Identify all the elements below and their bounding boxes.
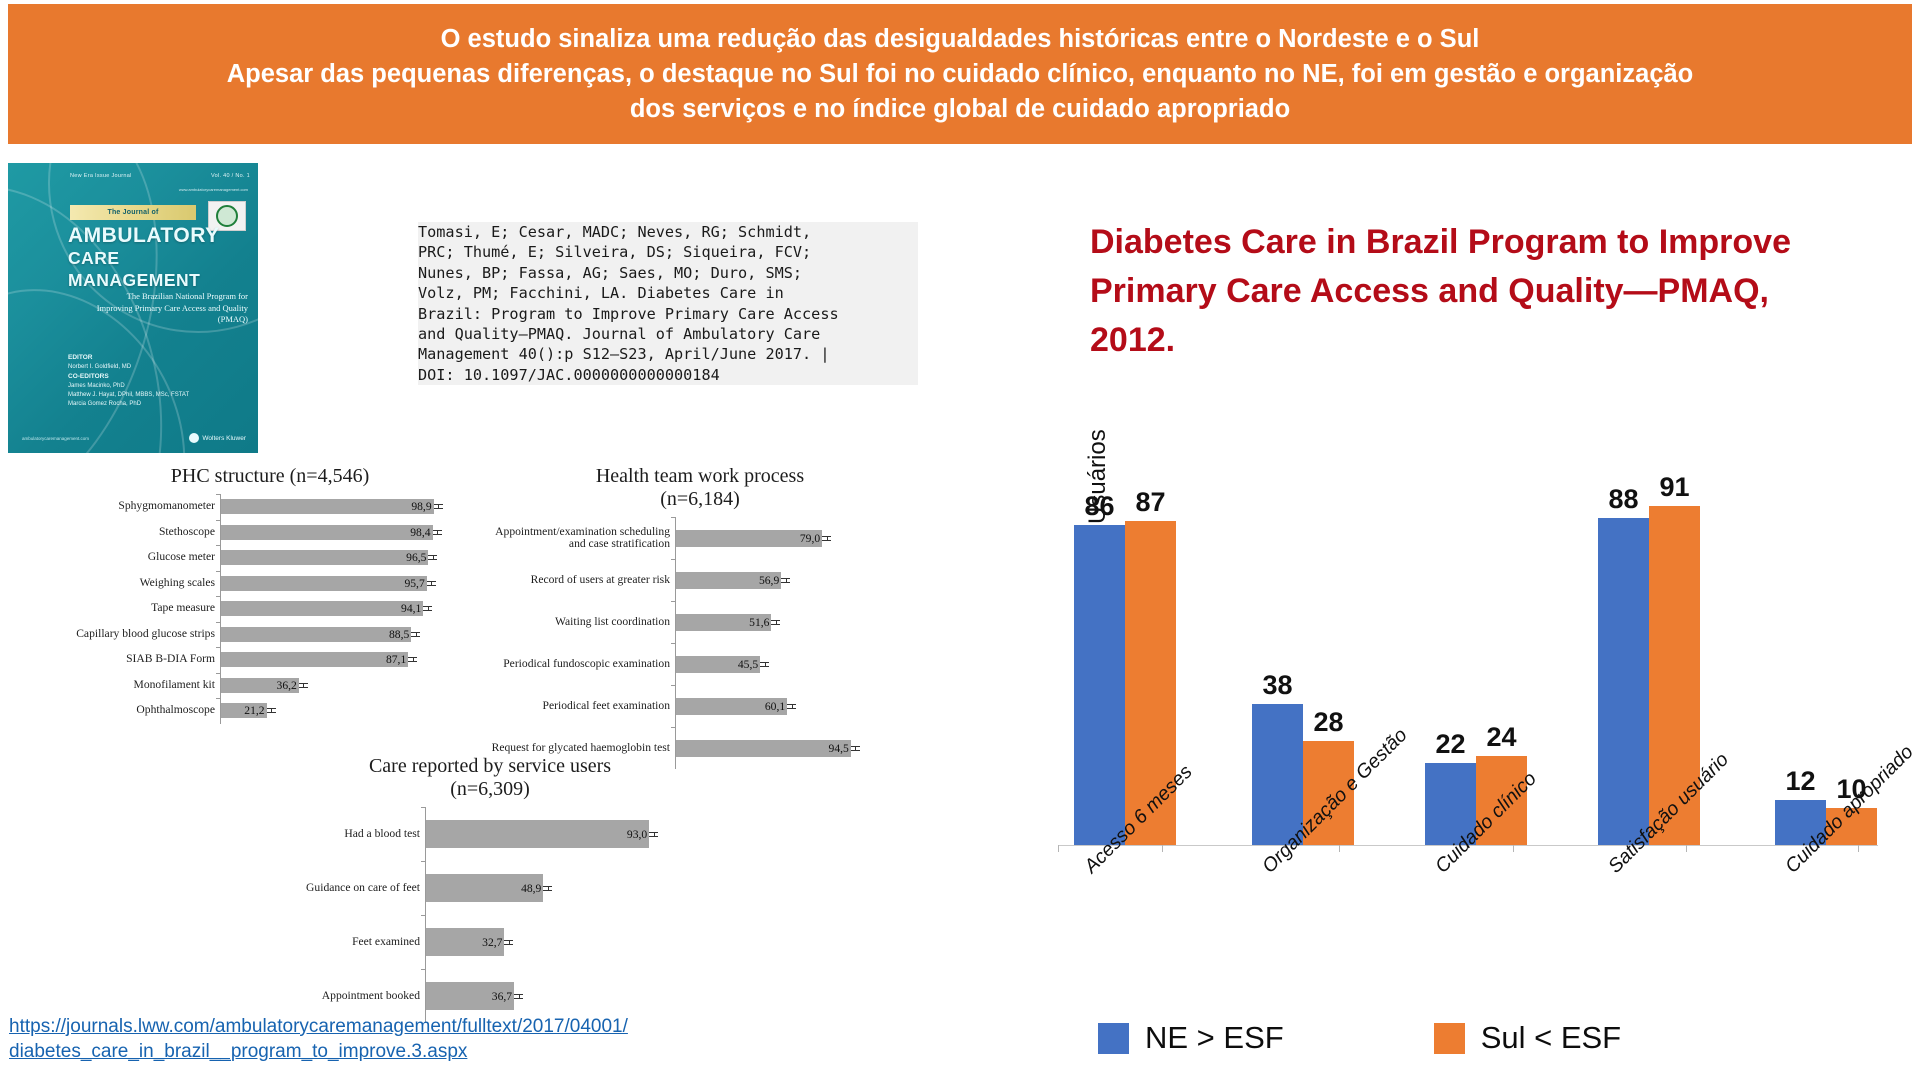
error-bar bbox=[411, 632, 420, 637]
bar-value-label: 86 bbox=[1084, 491, 1114, 521]
y-axis-tick bbox=[671, 643, 676, 644]
legend-label: Sul < ESF bbox=[1481, 1020, 1621, 1056]
chart-bar: 94,5 bbox=[676, 740, 851, 757]
x-axis-tick bbox=[1858, 845, 1859, 852]
chart-bar-row: Weighing scales95,7 bbox=[221, 571, 435, 597]
chart-bar-row: Record of users at greater risk56,9 bbox=[676, 559, 860, 601]
bar-value-label: 93,0 bbox=[627, 828, 649, 841]
bar-value-label: 56,9 bbox=[759, 574, 781, 587]
cover-editor-1: Norbert I. Goldfield, MD bbox=[68, 364, 131, 370]
cover-masthead-sub: www.ambulatorycaremanagement.com bbox=[179, 187, 248, 192]
cover-editor-role-2: CO-EDITORS bbox=[68, 373, 109, 380]
source-link[interactable]: https://journals.lww.com/ambulatorycarem… bbox=[9, 1014, 628, 1064]
bar-category-label: Sphygmomanometer bbox=[71, 500, 221, 513]
y-axis-tick bbox=[671, 559, 676, 560]
y-axis-tick bbox=[671, 517, 676, 518]
chart-title: Care reported by service users (n=6,309) bbox=[260, 755, 720, 801]
y-axis-tick bbox=[216, 494, 221, 495]
cover-publisher: Wolters Kluwer bbox=[189, 433, 246, 443]
journal-cover-image: New Era Issue Journal Vol. 40 / No. 1 ww… bbox=[8, 163, 258, 453]
chart-bar: 36,2 bbox=[221, 678, 299, 693]
y-axis-tick bbox=[671, 685, 676, 686]
bar-value-label: 12 bbox=[1785, 766, 1815, 796]
chart-title-line-1: Health team work process bbox=[490, 465, 910, 488]
chart-bar-row: Appointment/examination scheduling and c… bbox=[676, 517, 860, 559]
cover-title: AMBULATORY CARE MANAGEMENT bbox=[68, 225, 250, 291]
y-axis-tick bbox=[421, 861, 426, 862]
chart-bar: 36,7 bbox=[426, 982, 514, 1010]
chart-bar-row: Feet examined32,7 bbox=[426, 915, 665, 969]
error-bar bbox=[433, 530, 442, 535]
bar-value-label: 79,0 bbox=[800, 532, 822, 545]
bar-category-label: Appointment/examination scheduling and c… bbox=[491, 526, 676, 550]
bar-value-label: 94,5 bbox=[829, 742, 851, 755]
bar-value-label: 32,7 bbox=[482, 936, 504, 949]
chart-bar-row: Stethoscope98,4 bbox=[221, 520, 435, 546]
chart-care-reported-by-service-users: Care reported by service users (n=6,309)… bbox=[260, 755, 720, 1023]
chart-plot-area: Sphygmomanometer98,9Stethoscope98,4Gluco… bbox=[220, 494, 435, 724]
cover-editor-4: Marcia Gomez Rocha, PhD bbox=[68, 401, 141, 407]
bar-value-label: 88,5 bbox=[389, 628, 411, 641]
y-axis-tick bbox=[216, 698, 221, 699]
chart-health-team-work-process: Health team work process (n=6,184) Appoi… bbox=[490, 465, 910, 769]
chart-bar: 93,0 bbox=[426, 820, 649, 848]
chart-bar-row: Monofilament kit36,2 bbox=[221, 673, 435, 699]
header-banner: O estudo sinaliza uma redução das desigu… bbox=[8, 4, 1912, 144]
error-bar bbox=[514, 994, 523, 999]
cover-title-line-1: AMBULATORY bbox=[68, 224, 220, 247]
wolters-kluwer-logo-icon bbox=[189, 433, 199, 443]
cover-ribbon-label: The Journal of bbox=[70, 205, 196, 220]
bar-category-label: Appointment booked bbox=[261, 990, 426, 1003]
chart-phc-structure: PHC structure (n=4,546) Sphygmomanometer… bbox=[70, 465, 470, 724]
citation-block: Tomasi, E; Cesar, MADC; Neves, RG; Schmi… bbox=[418, 222, 918, 385]
bar-value-label: 60,1 bbox=[765, 700, 787, 713]
legend-label: NE > ESF bbox=[1145, 1020, 1284, 1056]
error-bar bbox=[299, 683, 308, 688]
bar-category-label: Capillary blood glucose strips bbox=[71, 628, 221, 641]
chart-bar: 60,1 bbox=[676, 698, 787, 715]
error-bar bbox=[851, 746, 860, 751]
bar-value-label: 98,9 bbox=[411, 500, 433, 513]
x-axis-tick bbox=[1339, 845, 1340, 852]
error-bar bbox=[822, 536, 831, 541]
bar-value-label: 98,4 bbox=[410, 526, 432, 539]
cover-editor-2: James Macinko, PhD bbox=[68, 383, 125, 389]
error-bar bbox=[543, 886, 552, 891]
bar-category-label: Request for glycated haemoglobin test bbox=[491, 742, 676, 754]
bar-value-label: 22 bbox=[1435, 729, 1465, 759]
bar-category-label: Waiting list coordination bbox=[491, 616, 676, 629]
chart-title: Health team work process (n=6,184) bbox=[490, 465, 910, 511]
legend-swatch bbox=[1434, 1023, 1465, 1054]
chart-bar-ne bbox=[1074, 525, 1125, 845]
y-axis-tick bbox=[671, 727, 676, 728]
chart-bar-row: Periodical feet examination60,1 bbox=[676, 685, 860, 727]
header-line-1: O estudo sinaliza uma redução das desigu… bbox=[441, 22, 1480, 57]
error-bar bbox=[771, 620, 780, 625]
y-axis-tick bbox=[216, 520, 221, 521]
error-bar bbox=[408, 657, 417, 662]
chart-title-line-2: (n=6,184) bbox=[490, 488, 910, 511]
cover-masthead-left: New Era Issue Journal bbox=[70, 173, 132, 179]
bar-value-label: 87 bbox=[1135, 487, 1165, 517]
bar-category-label: Had a blood test bbox=[261, 828, 426, 841]
y-axis-tick bbox=[216, 596, 221, 597]
bar-category-label: SIAB B-DIA Form bbox=[71, 653, 221, 666]
y-axis-tick bbox=[671, 601, 676, 602]
bar-value-label: 88 bbox=[1608, 484, 1638, 514]
bar-value-label: 95,7 bbox=[404, 577, 426, 590]
x-axis-tick bbox=[1513, 845, 1514, 852]
chart-bar-row: Tape measure94,1 bbox=[221, 596, 435, 622]
chart-bar: 94,1 bbox=[221, 601, 423, 616]
chart-bar-row: Capillary blood glucose strips88,5 bbox=[221, 622, 435, 648]
cover-editor-3: Matthew J. Hayat, DPhil, MBBS, MSc, FSTA… bbox=[68, 392, 189, 398]
error-bar bbox=[434, 504, 443, 509]
chart-bar: 21,2 bbox=[221, 703, 267, 718]
error-bar bbox=[504, 940, 513, 945]
y-axis-tick bbox=[216, 622, 221, 623]
page-title: Diabetes Care in Brazil Program to Impro… bbox=[1090, 218, 1830, 365]
bar-value-label: 28 bbox=[1313, 707, 1343, 737]
chart-bar-row: Waiting list coordination51,6 bbox=[676, 601, 860, 643]
bar-category-label: Periodical fundoscopic examination bbox=[491, 658, 676, 670]
source-link-line-1[interactable]: https://journals.lww.com/ambulatorycarem… bbox=[9, 1014, 628, 1039]
cover-editor-role-1: EDITOR bbox=[68, 354, 92, 361]
chart-title-line-2: (n=6,309) bbox=[260, 778, 720, 801]
y-axis-tick bbox=[216, 647, 221, 648]
cover-publisher-label: Wolters Kluwer bbox=[202, 435, 246, 442]
bar-value-label: 51,6 bbox=[749, 616, 771, 629]
x-axis-tick bbox=[1686, 845, 1687, 852]
bar-value-label: 91 bbox=[1659, 472, 1689, 502]
bar-category-label: Tape measure bbox=[71, 602, 221, 615]
chart-title-line-1: Care reported by service users bbox=[260, 755, 720, 778]
chart-bar: 48,9 bbox=[426, 874, 543, 902]
chart-bar-row: Had a blood test93,0 bbox=[426, 807, 665, 861]
chart-bar-row: Guidance on care of feet48,9 bbox=[426, 861, 665, 915]
legend-swatch bbox=[1098, 1023, 1129, 1054]
chart-bar: 87,1 bbox=[221, 652, 408, 667]
chart-bar: 96,5 bbox=[221, 550, 428, 565]
header-line-2: Apesar das pequenas diferenças, o destaq… bbox=[227, 57, 1694, 92]
bar-value-label: 48,9 bbox=[521, 882, 543, 895]
legend-item[interactable]: NE > ESF bbox=[1098, 1020, 1284, 1056]
bar-value-label: 36,7 bbox=[492, 990, 514, 1003]
y-axis-tick bbox=[421, 969, 426, 970]
chart-title: PHC structure (n=4,546) bbox=[70, 465, 470, 488]
chart-bar-row: Ophthalmoscope21,2 bbox=[221, 698, 435, 724]
chart-bar-ne bbox=[1598, 518, 1649, 845]
bar-category-label: Glucose meter bbox=[71, 551, 221, 564]
source-link-line-2[interactable]: diabetes_care_in_brazil__program_to_impr… bbox=[9, 1039, 467, 1064]
cover-editors: EDITOR Norbert I. Goldfield, MD CO-EDITO… bbox=[68, 353, 248, 409]
cover-title-line-2: CARE MANAGEMENT bbox=[68, 247, 250, 291]
bar-category-label: Periodical feet examination bbox=[491, 700, 676, 713]
chart-legend: NE > ESFSul < ESF bbox=[1058, 1020, 1878, 1056]
bar-category-label: Ophthalmoscope bbox=[71, 704, 221, 717]
error-bar bbox=[649, 832, 658, 837]
chart-bar: 51,6 bbox=[676, 614, 771, 631]
bar-category-label: Record of users at greater risk bbox=[491, 574, 676, 587]
chart-bar: 45,5 bbox=[676, 656, 760, 673]
bar-value-label: 96,5 bbox=[406, 551, 428, 564]
chart-bar: 88,5 bbox=[221, 627, 411, 642]
y-axis-tick bbox=[216, 545, 221, 546]
bar-category-label: Weighing scales bbox=[71, 577, 221, 590]
bar-category-label: Feet examined bbox=[261, 936, 426, 949]
cover-footnote: ambulatorycaremanagement.com bbox=[22, 436, 89, 441]
bar-value-label: 24 bbox=[1486, 722, 1516, 752]
chart-bar-row: Glucose meter96,5 bbox=[221, 545, 435, 571]
bar-value-label: 21,2 bbox=[244, 704, 266, 717]
chart-ne-sul-comparison: % Percepção dos Usuários 868738282224889… bbox=[940, 430, 1900, 1080]
header-line-3: dos serviços e no índice global de cuida… bbox=[630, 92, 1290, 127]
bar-value-label: 94,1 bbox=[401, 602, 423, 615]
y-axis-tick bbox=[216, 571, 221, 572]
bar-value-label: 38 bbox=[1262, 670, 1292, 700]
cover-ribbon: The Journal of bbox=[70, 205, 196, 220]
bar-category-label: Monofilament kit bbox=[71, 679, 221, 692]
chart-bar: 32,7 bbox=[426, 928, 504, 956]
chart-bar: 95,7 bbox=[221, 576, 427, 591]
chart-bar: 79,0 bbox=[676, 530, 822, 547]
error-bar bbox=[428, 555, 437, 560]
error-bar bbox=[781, 578, 790, 583]
x-axis-tick bbox=[1058, 845, 1059, 852]
y-axis-tick bbox=[421, 915, 426, 916]
chart-bar-row: Periodical fundoscopic examination45,5 bbox=[676, 643, 860, 685]
error-bar bbox=[787, 704, 796, 709]
chart-bar: 98,9 bbox=[221, 499, 434, 514]
chart-bar: 98,4 bbox=[221, 525, 433, 540]
error-bar bbox=[760, 662, 769, 667]
bar-value-label: 36,2 bbox=[277, 679, 299, 692]
y-axis-tick bbox=[421, 807, 426, 808]
error-bar bbox=[423, 606, 432, 611]
chart-plot-area: Appointment/examination scheduling and c… bbox=[675, 517, 860, 769]
cover-masthead-right: Vol. 40 / No. 1 bbox=[211, 173, 250, 179]
cover-masthead: New Era Issue Journal Vol. 40 / No. 1 bbox=[70, 173, 250, 179]
error-bar bbox=[267, 708, 276, 713]
chart-plot-area: Had a blood test93,0Guidance on care of … bbox=[425, 807, 665, 1023]
bar-value-label: 87,1 bbox=[386, 653, 408, 666]
chart-bar-row: SIAB B-DIA Form87,1 bbox=[221, 647, 435, 673]
bar-value-label: 45,5 bbox=[738, 658, 760, 671]
bar-category-label: Guidance on care of feet bbox=[261, 882, 426, 895]
error-bar bbox=[427, 581, 436, 586]
cover-issue-theme: The Brazilian National Program for Impro… bbox=[94, 291, 248, 326]
x-axis-tick bbox=[1162, 845, 1163, 852]
y-axis-tick bbox=[216, 673, 221, 674]
bar-category-label: Stethoscope bbox=[71, 526, 221, 539]
chart-bar-row: Sphygmomanometer98,9 bbox=[221, 494, 435, 520]
chart-bar: 56,9 bbox=[676, 572, 781, 589]
legend-item[interactable]: Sul < ESF bbox=[1434, 1020, 1621, 1056]
